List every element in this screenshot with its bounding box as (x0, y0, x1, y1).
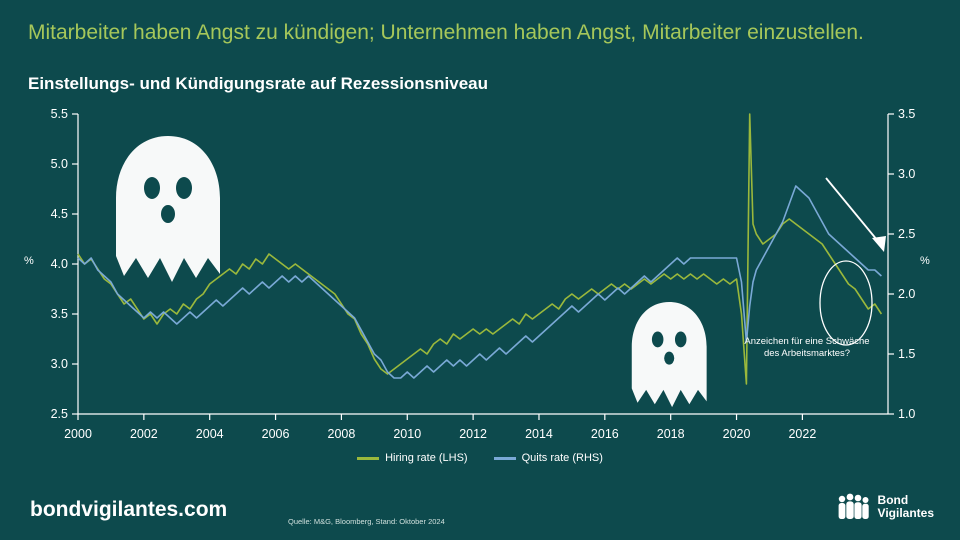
trend-arrow-head (872, 236, 886, 252)
right-tick-label: 2.0 (898, 287, 915, 301)
right-tick-label: 3.0 (898, 167, 915, 181)
x-tick-label: 2022 (788, 427, 816, 441)
x-tick-label: 2004 (196, 427, 224, 441)
legend-swatch-quits (494, 457, 516, 460)
legend-item-hiring: Hiring rate (LHS) (357, 452, 468, 464)
legend-label-hiring: Hiring rate (LHS) (385, 452, 468, 464)
chart-plot-area: 2.53.03.54.04.55.05.51.01.52.02.53.03.52… (0, 96, 960, 456)
ghost-icon-small (632, 302, 707, 407)
x-tick-label: 2000 (64, 427, 92, 441)
source-note: Quelle: M&G, Bloomberg, Stand: Oktober 2… (288, 517, 445, 526)
left-tick-label: 3.0 (51, 357, 68, 371)
legend-item-quits: Quits rate (RHS) (494, 452, 603, 464)
logo-text: Bond Vigilantes (878, 494, 934, 520)
right-tick-label: 1.0 (898, 407, 915, 421)
legend-label-quits: Quits rate (RHS) (522, 452, 603, 464)
x-tick-label: 2002 (130, 427, 158, 441)
x-tick-label: 2018 (657, 427, 685, 441)
x-tick-label: 2008 (328, 427, 356, 441)
left-tick-label: 5.5 (51, 107, 68, 121)
logo-line-2: Vigilantes (878, 507, 934, 520)
legend-swatch-hiring (357, 457, 379, 460)
bond-vigilantes-logo: Bond Vigilantes (836, 492, 934, 522)
left-tick-label: 4.0 (51, 257, 68, 271)
x-tick-label: 2014 (525, 427, 553, 441)
chart-svg: 2.53.03.54.04.55.05.51.01.52.02.53.03.52… (0, 96, 960, 456)
right-tick-label: 2.5 (898, 227, 915, 241)
x-tick-label: 2016 (591, 427, 619, 441)
page-title: Mitarbeiter haben Angst zu kündigen; Unt… (28, 20, 938, 46)
x-tick-label: 2006 (262, 427, 290, 441)
chart-legend: Hiring rate (LHS) Quits rate (RHS) (0, 452, 960, 464)
chart-subtitle: Einstellungs- und Kündigungsrate auf Rez… (28, 74, 938, 94)
left-tick-label: 3.5 (51, 307, 68, 321)
right-tick-label: 3.5 (898, 107, 915, 121)
left-tick-label: 4.5 (51, 207, 68, 221)
x-tick-label: 2020 (723, 427, 751, 441)
people-icon (836, 492, 870, 522)
trend-arrow-line (826, 178, 882, 246)
left-tick-label: 5.0 (51, 157, 68, 171)
x-tick-label: 2012 (459, 427, 487, 441)
right-tick-label: 1.5 (898, 347, 915, 361)
ghost-icon-large (116, 136, 220, 282)
x-tick-label: 2010 (393, 427, 421, 441)
chart-annotation: Anzeichen für eine Schwäche des Arbeitsm… (742, 336, 872, 360)
left-tick-label: 2.5 (51, 407, 68, 421)
site-brand: bondvigilantes.com (30, 498, 227, 522)
